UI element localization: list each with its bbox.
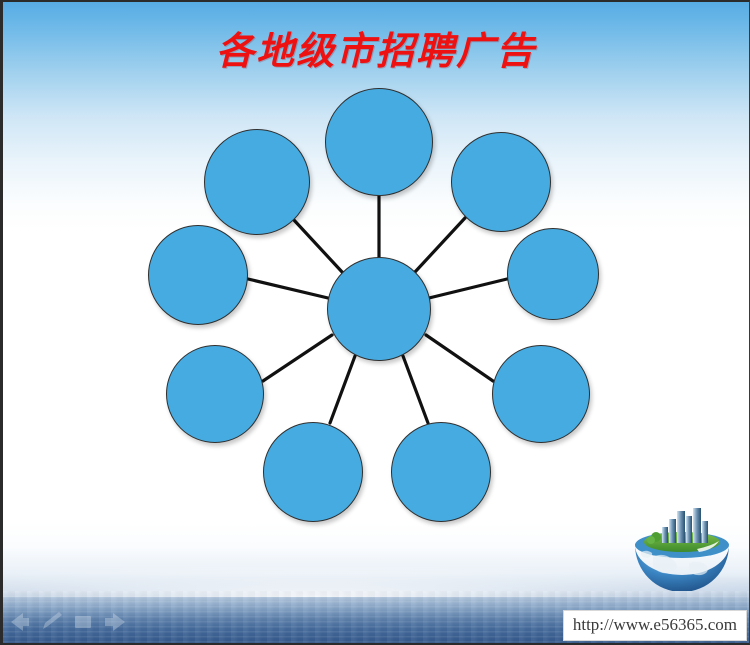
spoke-node-bottom-left[interactable] — [263, 422, 363, 522]
back-arrow-icon — [11, 613, 29, 631]
site-url-watermark: http://www.e56365.com — [563, 610, 747, 641]
center-node[interactable] — [327, 257, 431, 361]
pencil-icon — [43, 612, 62, 629]
spoke-node-top-right[interactable] — [451, 132, 551, 232]
spoke-node-top[interactable] — [325, 88, 433, 196]
page-title: 各地级市招聘广告 — [3, 28, 749, 74]
slide-canvas: 各地级市招聘广告 — [0, 0, 750, 645]
watermark-nav-icons — [7, 609, 137, 635]
forward-arrow-icon — [105, 613, 125, 631]
spoke-node-top-left[interactable] — [204, 129, 310, 235]
stop-square-icon — [75, 616, 91, 628]
spoke-node-right-upper[interactable] — [507, 228, 599, 320]
spoke-node-bottom-right[interactable] — [391, 422, 491, 522]
tree-icon — [647, 536, 655, 544]
spoke-node-right-lower[interactable] — [492, 345, 590, 443]
globe-city-logo — [627, 505, 737, 591]
spoke-node-left-upper[interactable] — [148, 225, 248, 325]
spoke-node-left-lower[interactable] — [166, 345, 264, 443]
